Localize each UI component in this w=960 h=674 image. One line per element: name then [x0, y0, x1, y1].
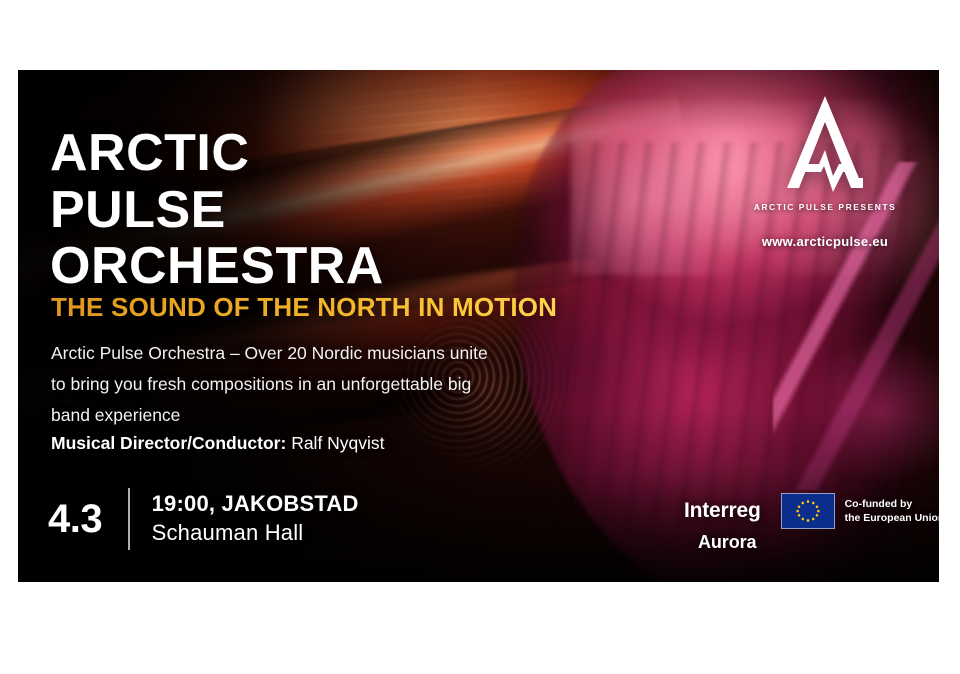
- event-venue-name: Schauman Hall: [152, 519, 359, 548]
- headline-line-2: PULSE: [50, 182, 384, 239]
- funding-row: Interreg: [684, 493, 934, 529]
- event-venue-block: 19:00, JAKOBSTAD Schauman Hall: [152, 490, 359, 547]
- headline-line-1: ARCTIC: [50, 125, 384, 182]
- eu-caption-line-1: Co-funded by: [845, 497, 939, 511]
- description-line-2: to bring you fresh compositions in an un…: [51, 369, 551, 400]
- conductor-credit: Musical Director/Conductor: Ralf Nyqvist: [51, 432, 385, 455]
- brand-website-url[interactable]: www.arcticpulse.eu: [735, 234, 915, 249]
- poster-subtitle: THE SOUND OF THE NORTH IN MOTION: [51, 292, 557, 323]
- vertical-divider: [128, 488, 130, 550]
- conductor-credit-label: Musical Director/Conductor:: [51, 433, 286, 453]
- event-date: 4.3: [48, 499, 128, 539]
- page-canvas: ARCTIC PULSE ORCHESTRA THE SOUND OF THE …: [0, 0, 960, 674]
- interreg-program-name: Aurora: [698, 532, 934, 553]
- event-time-city: 19:00, JAKOBSTAD: [152, 490, 359, 519]
- headline-line-3: ORCHESTRA: [50, 238, 384, 295]
- poster-headline: ARCTIC PULSE ORCHESTRA: [50, 125, 384, 295]
- arctic-pulse-a-logo-icon: [779, 92, 871, 196]
- event-details: 4.3 19:00, JAKOBSTAD Schauman Hall: [48, 488, 359, 550]
- eu-funding-caption: Co-funded by the European Union: [845, 497, 939, 525]
- poster-description: Arctic Pulse Orchestra – Over 20 Nordic …: [51, 338, 551, 431]
- poster-content: ARCTIC PULSE ORCHESTRA THE SOUND OF THE …: [18, 70, 939, 582]
- funding-lockup: Interreg: [684, 493, 934, 553]
- brand-tagline: ARCTIC PULSE PRESENTS: [735, 202, 915, 212]
- conductor-credit-name: Ralf Nyqvist: [291, 433, 384, 453]
- eu-caption-line-2: the European Union: [845, 511, 939, 525]
- description-line-3: band experience: [51, 400, 551, 431]
- brand-lockup: ARCTIC PULSE PRESENTS www.arcticpulse.eu: [735, 92, 915, 249]
- description-line-1: Arctic Pulse Orchestra – Over 20 Nordic …: [51, 338, 551, 369]
- interreg-wordmark: Interreg: [684, 499, 761, 523]
- european-union-flag-icon: [781, 493, 835, 529]
- event-poster: ARCTIC PULSE ORCHESTRA THE SOUND OF THE …: [18, 70, 939, 582]
